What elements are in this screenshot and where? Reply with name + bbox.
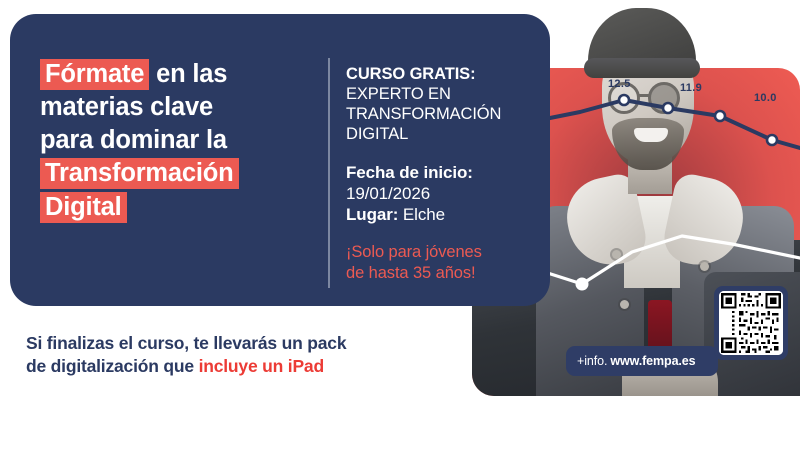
age-restriction-block: ¡Solo para jóvenes de hasta 35 años! bbox=[346, 242, 542, 284]
course-date-block: Fecha de inicio: 19/01/2026 Lugar: Elche bbox=[346, 162, 542, 226]
info-prefix: +info. bbox=[577, 354, 607, 368]
course-title-line3: TRANSFORMACIÓN bbox=[346, 104, 542, 124]
headline-highlight-transformacion: Transformación bbox=[40, 158, 239, 189]
place-value: Elche bbox=[403, 205, 445, 224]
course-title-gratis: CURSO GRATIS: bbox=[346, 64, 542, 84]
promo-line-1: Si finalizas el curso, te llevarás un pa… bbox=[26, 333, 346, 353]
top-chart-marker bbox=[767, 135, 777, 145]
top-chart-marker bbox=[715, 111, 725, 121]
navy-content-card: Fórmate en las materias clave para domin… bbox=[10, 14, 550, 306]
headline-highlight-digital: Digital bbox=[40, 192, 127, 223]
info-url-pill[interactable]: +info. www.fempa.es bbox=[566, 346, 718, 376]
headline: Fórmate en las materias clave para domin… bbox=[40, 58, 316, 224]
age-line-1: ¡Solo para jóvenes bbox=[346, 242, 542, 263]
promo-accent-ipad: incluye un iPad bbox=[199, 356, 324, 376]
headline-text-3: para dominar la bbox=[40, 126, 227, 154]
course-title-line2: EXPERTO EN bbox=[346, 84, 542, 104]
top-chart-marker bbox=[619, 95, 629, 105]
top-chart-marker bbox=[663, 103, 673, 113]
age-line-2: de hasta 35 años! bbox=[346, 263, 542, 284]
date-label: Fecha de inicio: bbox=[346, 162, 542, 183]
footer-logo-strip: Financiado por la Unión Europea NextGene… bbox=[0, 396, 800, 450]
info-url: www.fempa.es bbox=[610, 354, 695, 368]
chart-data-label: 12.5 bbox=[608, 78, 631, 90]
date-value: 19/01/2026 bbox=[346, 183, 542, 204]
headline-highlight-formate: Fórmate bbox=[40, 59, 149, 90]
course-info-column: CURSO GRATIS: EXPERTO EN TRANSFORMACIÓN … bbox=[346, 64, 542, 283]
column-divider bbox=[328, 58, 330, 288]
promo-line-2-prefix: de digitalización que bbox=[26, 356, 199, 376]
chart-data-label: 10.0 bbox=[754, 92, 777, 104]
place-label: Lugar: bbox=[346, 205, 398, 224]
course-title-line4: DIGITAL bbox=[346, 124, 542, 144]
chart-data-label: 11.9 bbox=[680, 82, 702, 94]
course-title-block: CURSO GRATIS: EXPERTO EN TRANSFORMACIÓN … bbox=[346, 64, 542, 145]
promo-text: Si finalizas el curso, te llevarás un pa… bbox=[26, 332, 456, 378]
qr-code-icon bbox=[719, 291, 783, 355]
qr-code-container[interactable] bbox=[714, 286, 788, 360]
headline-text-1: en las bbox=[156, 60, 227, 88]
headline-text-2: materias clave bbox=[40, 93, 213, 121]
